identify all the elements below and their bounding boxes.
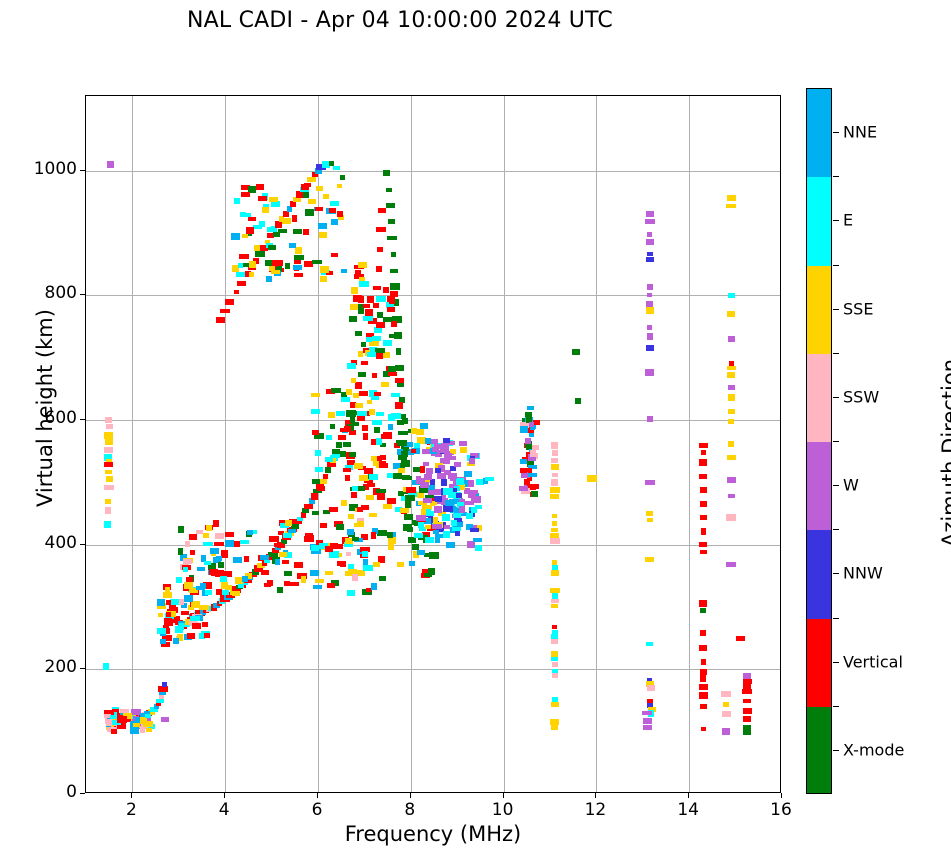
echo-point	[393, 473, 402, 479]
echo-point	[146, 728, 152, 732]
echo-point	[373, 461, 379, 466]
echo-point	[743, 716, 751, 722]
echo-point	[206, 525, 212, 531]
echo-point	[239, 254, 249, 259]
echo-point	[400, 508, 409, 513]
colorbar-title: Azimuth Direction	[938, 293, 951, 613]
echo-point	[268, 245, 276, 250]
echo-point	[551, 479, 558, 486]
echo-point	[242, 234, 248, 238]
echo-point	[397, 440, 407, 446]
echo-point	[320, 523, 327, 528]
echo-point	[104, 462, 113, 467]
echo-point	[376, 296, 386, 302]
echo-point	[363, 433, 368, 440]
colorbar-label-vertical: Vertical	[843, 652, 903, 671]
echo-point	[377, 312, 383, 318]
echo-point	[331, 253, 338, 257]
echo-point	[285, 263, 290, 269]
x-tick-label: 8	[390, 800, 430, 820]
echo-point	[361, 361, 368, 365]
echo-point	[377, 247, 383, 252]
echo-point	[349, 316, 357, 322]
plot-area[interactable]	[85, 95, 781, 793]
echo-point	[103, 663, 109, 670]
echo-point	[323, 474, 328, 479]
echo-point	[388, 219, 395, 224]
echo-point	[365, 309, 373, 316]
echo-point	[271, 270, 280, 274]
echo-point	[336, 442, 342, 448]
echo-point	[442, 514, 450, 521]
echo-point	[354, 463, 363, 469]
echo-point	[262, 207, 269, 213]
echo-point	[202, 622, 208, 627]
echo-point	[255, 251, 265, 257]
echo-point	[253, 225, 262, 229]
echo-point	[267, 227, 275, 232]
echo-point	[378, 208, 386, 213]
echo-point	[285, 520, 292, 526]
echo-point	[728, 441, 734, 447]
echo-point	[313, 585, 322, 589]
echo-point	[647, 252, 653, 256]
echo-point	[106, 719, 112, 726]
echo-point	[390, 269, 398, 273]
echo-point	[699, 459, 707, 466]
echo-point	[282, 218, 291, 224]
echo-point	[316, 186, 323, 191]
echo-point	[383, 170, 390, 176]
echo-point	[700, 704, 707, 709]
echo-point	[432, 447, 439, 452]
echo-point	[398, 455, 407, 460]
echo-point	[387, 498, 396, 504]
echo-point	[524, 479, 530, 485]
echo-point	[158, 613, 163, 617]
echo-point	[333, 544, 343, 549]
echo-point	[722, 728, 730, 735]
echo-point	[355, 331, 362, 336]
echo-point	[333, 166, 340, 170]
echo-point	[215, 533, 224, 539]
y-tick	[80, 170, 85, 171]
colorbar-label-nnw: NNW	[843, 564, 883, 583]
echo-point	[265, 260, 272, 266]
echo-point	[325, 467, 331, 473]
echo-point	[646, 307, 654, 314]
echo-point	[372, 336, 381, 341]
echo-point	[643, 718, 652, 724]
echo-point	[166, 600, 171, 605]
echo-point	[366, 495, 374, 500]
echo-point	[369, 474, 378, 480]
echo-point	[292, 215, 297, 222]
echo-point	[414, 533, 423, 538]
echo-point	[435, 534, 443, 538]
echo-point	[311, 493, 318, 500]
echo-point	[466, 513, 473, 519]
echo-point	[700, 550, 707, 554]
echo-point	[170, 599, 179, 605]
echo-point	[380, 455, 386, 460]
x-axis-label: Frequency (MHz)	[85, 822, 781, 846]
echo-point	[358, 486, 365, 491]
echo-point	[728, 336, 735, 342]
echo-point	[236, 272, 245, 277]
echo-point	[647, 232, 652, 237]
echo-point	[532, 445, 539, 450]
echo-point	[552, 673, 558, 678]
echo-point	[444, 525, 450, 529]
echo-point	[315, 467, 323, 472]
echo-point	[159, 694, 164, 699]
echo-point	[417, 550, 425, 555]
echo-point	[551, 604, 558, 608]
echo-point	[700, 501, 707, 507]
echo-point	[371, 583, 377, 590]
echo-point	[572, 349, 580, 355]
echo-point	[374, 427, 380, 433]
echo-point	[346, 389, 352, 395]
echo-point	[475, 545, 482, 551]
echo-point	[416, 515, 426, 521]
echo-point	[646, 345, 654, 351]
echo-point	[209, 569, 216, 575]
echo-point	[338, 435, 346, 440]
echo-point	[336, 411, 345, 416]
echo-point	[345, 475, 350, 481]
echo-point	[403, 524, 412, 531]
x-tick	[410, 793, 411, 798]
echo-point	[429, 552, 439, 559]
echo-point	[189, 534, 197, 540]
echo-point	[381, 434, 390, 439]
echo-point	[645, 480, 655, 485]
echo-point	[352, 574, 358, 581]
echo-point	[222, 590, 229, 595]
echo-point	[307, 177, 316, 182]
echo-point	[642, 711, 652, 715]
echo-point	[295, 247, 302, 254]
echo-point	[258, 196, 267, 201]
echo-point	[323, 194, 329, 199]
echo-point	[344, 426, 351, 432]
echo-point	[105, 438, 113, 445]
echo-point	[527, 406, 534, 410]
colorbar-segment-sse	[807, 266, 831, 354]
echo-point	[107, 161, 114, 168]
echo-point	[310, 570, 319, 576]
echo-point	[376, 227, 386, 232]
echo-point	[383, 287, 389, 293]
echo-point	[435, 538, 440, 543]
echo-point	[105, 507, 111, 514]
echo-point	[346, 552, 351, 556]
echo-point	[395, 365, 404, 371]
echo-point	[420, 482, 429, 488]
echo-point	[551, 528, 558, 532]
x-tick	[595, 793, 596, 798]
echo-point	[330, 424, 335, 429]
echo-point	[645, 369, 654, 376]
echo-point	[216, 317, 225, 323]
echo-point	[196, 530, 203, 534]
echo-point	[418, 522, 424, 528]
colorbar-segment-vertical	[807, 619, 831, 707]
echo-point	[301, 184, 309, 190]
echo-point	[699, 645, 707, 651]
echo-point	[373, 286, 381, 290]
echo-point	[269, 197, 278, 202]
echo-point	[346, 410, 356, 417]
colorbar-label-e: E	[843, 211, 853, 230]
echo-point	[145, 714, 151, 718]
echo-point	[367, 352, 376, 357]
echo-point	[390, 283, 400, 290]
echo-point	[647, 518, 653, 522]
colorbar-label-w: W	[843, 476, 859, 495]
echo-point	[647, 685, 655, 691]
echo-point	[204, 561, 211, 565]
echo-point	[358, 351, 363, 357]
echo-point	[205, 590, 212, 595]
echo-point	[240, 212, 246, 217]
echo-point	[337, 184, 342, 188]
echo-point	[407, 476, 412, 480]
echo-point	[185, 541, 190, 547]
echo-point	[347, 529, 354, 535]
colorbar-boundary-tick	[833, 618, 839, 619]
echo-point	[736, 636, 745, 641]
echo-point	[350, 417, 355, 423]
echo-point	[363, 316, 373, 321]
echo-point	[643, 725, 652, 730]
echo-point	[216, 556, 222, 561]
echo-point	[359, 281, 369, 287]
echo-point	[728, 419, 734, 424]
echo-point	[391, 393, 400, 397]
colorbar-label-sse: SSE	[843, 299, 873, 318]
echo-point	[347, 590, 355, 596]
colorbar-label-nne: NNE	[843, 123, 877, 142]
echo-point	[646, 257, 654, 262]
echo-point	[355, 270, 361, 274]
echo-point	[372, 420, 382, 425]
echo-point	[721, 691, 731, 697]
echo-point	[728, 385, 735, 390]
echo-point	[551, 464, 559, 470]
echo-point	[318, 223, 327, 229]
echo-point	[699, 443, 708, 448]
colorbar-boundary-tick	[833, 706, 839, 707]
echo-point	[266, 276, 272, 282]
echo-point	[104, 485, 114, 490]
echo-point	[225, 299, 234, 305]
echo-point	[464, 471, 472, 477]
echo-point	[645, 219, 655, 224]
echo-point	[433, 530, 439, 534]
echo-point	[552, 521, 557, 526]
echo-point	[234, 541, 240, 547]
y-tick	[80, 544, 85, 545]
echo-point	[647, 284, 653, 290]
echo-point	[105, 417, 112, 423]
echo-point	[233, 557, 242, 563]
x-tick-label: 10	[483, 800, 523, 820]
echo-point	[110, 715, 117, 719]
echo-point	[325, 571, 333, 575]
echo-point	[312, 260, 322, 264]
echo-point	[303, 229, 309, 235]
echo-point	[550, 538, 560, 544]
echo-point	[377, 530, 387, 536]
echo-point	[700, 675, 706, 682]
colorbar-tick	[833, 750, 839, 751]
echo-point	[530, 484, 539, 489]
echo-point	[422, 449, 430, 454]
echo-point	[176, 577, 182, 583]
echo-point	[646, 642, 653, 646]
echo-point	[373, 303, 379, 308]
echo-point	[520, 468, 527, 473]
echo-point	[320, 276, 327, 282]
echo-point	[157, 628, 166, 634]
echo-point	[178, 548, 183, 555]
echo-point	[647, 416, 653, 422]
echo-point	[550, 487, 560, 493]
y-tick-label: 200	[7, 657, 77, 677]
echo-point	[434, 489, 441, 495]
echo-point	[727, 372, 735, 378]
echo-point	[213, 520, 219, 527]
echo-point	[244, 556, 249, 562]
echo-point	[355, 382, 362, 389]
echo-point	[379, 576, 386, 581]
echo-point	[699, 692, 708, 699]
colorbar-segment-w	[807, 442, 831, 530]
echo-point	[304, 504, 313, 509]
echo-point	[304, 536, 314, 542]
echo-point	[283, 533, 292, 538]
echo-point	[289, 243, 296, 248]
echo-point	[699, 474, 707, 479]
echo-point	[432, 524, 442, 529]
echo-point	[347, 363, 356, 369]
echo-point	[647, 325, 652, 330]
echo-point	[376, 266, 382, 272]
echo-point	[293, 265, 302, 270]
echo-point	[426, 509, 431, 516]
echo-point	[284, 571, 292, 576]
echo-point	[727, 455, 736, 460]
echo-point	[550, 494, 559, 499]
echo-point	[329, 208, 336, 213]
colorbar-boundary-tick	[833, 529, 839, 530]
echo-point	[701, 727, 706, 731]
echo-point	[302, 508, 309, 513]
echo-point	[701, 528, 706, 535]
echo-point	[728, 293, 735, 298]
echo-point	[469, 458, 475, 464]
x-tick	[131, 793, 132, 798]
echo-point	[106, 424, 113, 429]
colorbar-boundary-tick	[833, 265, 839, 266]
echo-point	[312, 479, 320, 484]
echo-point	[105, 470, 112, 474]
echo-point	[220, 309, 230, 313]
echo-point	[727, 311, 735, 317]
echo-point	[166, 612, 171, 617]
echo-point	[301, 576, 306, 583]
echo-point	[646, 239, 654, 245]
echo-point	[329, 161, 334, 166]
echo-point	[294, 273, 303, 277]
echo-point	[104, 521, 111, 528]
echo-point	[416, 429, 424, 435]
echo-point	[551, 599, 559, 603]
colorbar-boundary-tick	[833, 441, 839, 442]
echo-point	[367, 400, 372, 404]
echo-point	[388, 543, 394, 550]
echo-point	[210, 548, 219, 554]
echo-point	[396, 348, 401, 355]
echo-point	[411, 449, 416, 453]
echo-point	[254, 245, 260, 251]
echo-point	[405, 495, 415, 501]
echo-point	[311, 409, 320, 414]
echo-point	[397, 562, 404, 567]
colorbar-tick	[833, 573, 839, 574]
x-tick-label: 4	[204, 800, 244, 820]
echo-point	[165, 587, 170, 593]
echo-point	[728, 494, 735, 498]
colorbar-tick	[833, 485, 839, 486]
echo-point	[402, 418, 408, 424]
echo-point	[161, 717, 169, 722]
echo-point	[178, 526, 184, 533]
echo-point	[391, 252, 396, 257]
colorbar-segment-ssw	[807, 354, 831, 442]
echo-point	[454, 462, 461, 467]
echo-point	[726, 562, 736, 567]
y-tick-label: 1000	[7, 159, 77, 179]
echo-point	[389, 334, 399, 338]
echo-point	[163, 592, 172, 598]
echo-point	[232, 591, 240, 596]
echo-point	[350, 304, 358, 310]
echo-point	[225, 532, 234, 537]
echo-point	[443, 531, 450, 538]
echo-point	[357, 521, 364, 527]
echo-point	[371, 532, 376, 539]
echo-point	[242, 576, 248, 582]
echo-point	[319, 232, 327, 238]
echo-point	[274, 543, 283, 547]
echo-point	[722, 711, 731, 717]
echo-point	[328, 412, 335, 418]
echo-point	[470, 528, 479, 532]
echo-point	[168, 619, 176, 623]
echo-point	[728, 394, 735, 401]
colorbar-tick	[833, 309, 839, 310]
x-tick-label: 14	[668, 800, 708, 820]
echo-point	[315, 450, 321, 456]
echo-point	[261, 570, 269, 575]
echo-point	[325, 546, 333, 552]
echo-point	[160, 639, 166, 644]
echo-point	[700, 608, 706, 613]
